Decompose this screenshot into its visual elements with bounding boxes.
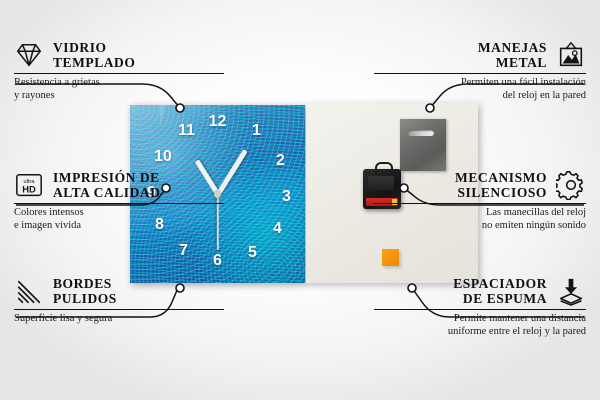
feature-title-line2: PULIDOS (53, 291, 117, 306)
clock-numeral-3: 3 (282, 189, 291, 205)
feature-impresion-alta-calidad: ultra HD IMPRESIÓN DE ALTA CALIDAD Color… (14, 170, 224, 232)
clock-numeral-11: 11 (178, 123, 195, 139)
feature-manejas-metal: MANEJAS METAL Permiten una fácil instala… (374, 40, 586, 102)
feature-desc-line2: del reloj en la pared (374, 90, 586, 103)
feature-divider (14, 73, 224, 74)
clock-numeral-6: 6 (213, 253, 222, 269)
clock-numeral-10: 10 (154, 149, 172, 165)
clock-numeral-7: 7 (179, 243, 188, 259)
svg-text:HD: HD (22, 185, 36, 195)
infographic-canvas: 12 1 2 3 4 5 6 7 8 9 10 11 (0, 0, 600, 400)
feature-desc-line2: y rayones (14, 90, 224, 103)
clock-numeral-2: 2 (276, 153, 285, 169)
diamond-icon (14, 40, 44, 70)
feature-desc-line1: Permiten una fácil instalación (374, 77, 586, 90)
feature-title-line1: MANEJAS (478, 40, 547, 55)
foam-spacer (382, 249, 399, 266)
feature-mecanismo-silencioso: MECANISMO SILENCIOSO Las manecillas del … (374, 170, 586, 232)
clock-numeral-1: 1 (252, 123, 261, 139)
feature-divider (14, 309, 224, 310)
clock-numeral-4: 4 (273, 221, 282, 237)
feature-title-line2: METAL (478, 55, 547, 70)
feature-desc-line2: no emiten ningún sonido (374, 220, 586, 233)
clock-numeral-12: 12 (209, 114, 227, 130)
feature-title-line1: BORDES (53, 276, 117, 291)
feature-desc-line1: Superficie lisa y segura (14, 313, 224, 326)
feature-espaciador-de-espuma: ESPACIADOR DE ESPUMA Permite mantener un… (374, 276, 586, 338)
feature-vidrio-templado: VIDRIO TEMPLADO Resistencia a grietas y … (14, 40, 224, 102)
picture-hanger-icon (556, 40, 586, 70)
feature-divider (14, 203, 224, 204)
hanger-slot (408, 130, 434, 136)
feature-title-line1: MECANISMO (455, 170, 547, 185)
feature-desc-line1: Resistencia a grietas (14, 77, 224, 90)
feature-title-line2: ALTA CALIDAD (53, 185, 161, 200)
feature-divider (374, 309, 586, 310)
feature-title-line1: IMPRESIÓN DE (53, 170, 161, 185)
feature-desc-line2: uniforme entre el reloj y la pared (374, 326, 586, 339)
feature-divider (374, 203, 586, 204)
gear-icon (556, 170, 586, 200)
feature-title-line2: SILENCIOSO (455, 185, 547, 200)
feature-bordes-pulidos: BORDES PULIDOS Superficie lisa y segura (14, 276, 224, 326)
polished-edges-icon (14, 276, 44, 306)
foam-spacer-icon (556, 276, 586, 306)
ultra-hd-icon: ultra HD (14, 170, 44, 200)
metal-hanger-plate (400, 119, 446, 171)
feature-title-line2: DE ESPUMA (453, 291, 547, 306)
feature-desc-line2: e imagen vívida (14, 220, 224, 233)
feature-desc-line1: Colores intensos (14, 207, 224, 220)
feature-title-line1: VIDRIO (53, 40, 135, 55)
feature-title-line2: TEMPLADO (53, 55, 135, 70)
feature-desc-line1: Las manecillas del reloj (374, 207, 586, 220)
feature-divider (374, 73, 586, 74)
clock-numeral-5: 5 (248, 245, 257, 261)
feature-desc-line1: Permite mantener una distancia (374, 313, 586, 326)
feature-title-line1: ESPACIADOR (453, 276, 547, 291)
